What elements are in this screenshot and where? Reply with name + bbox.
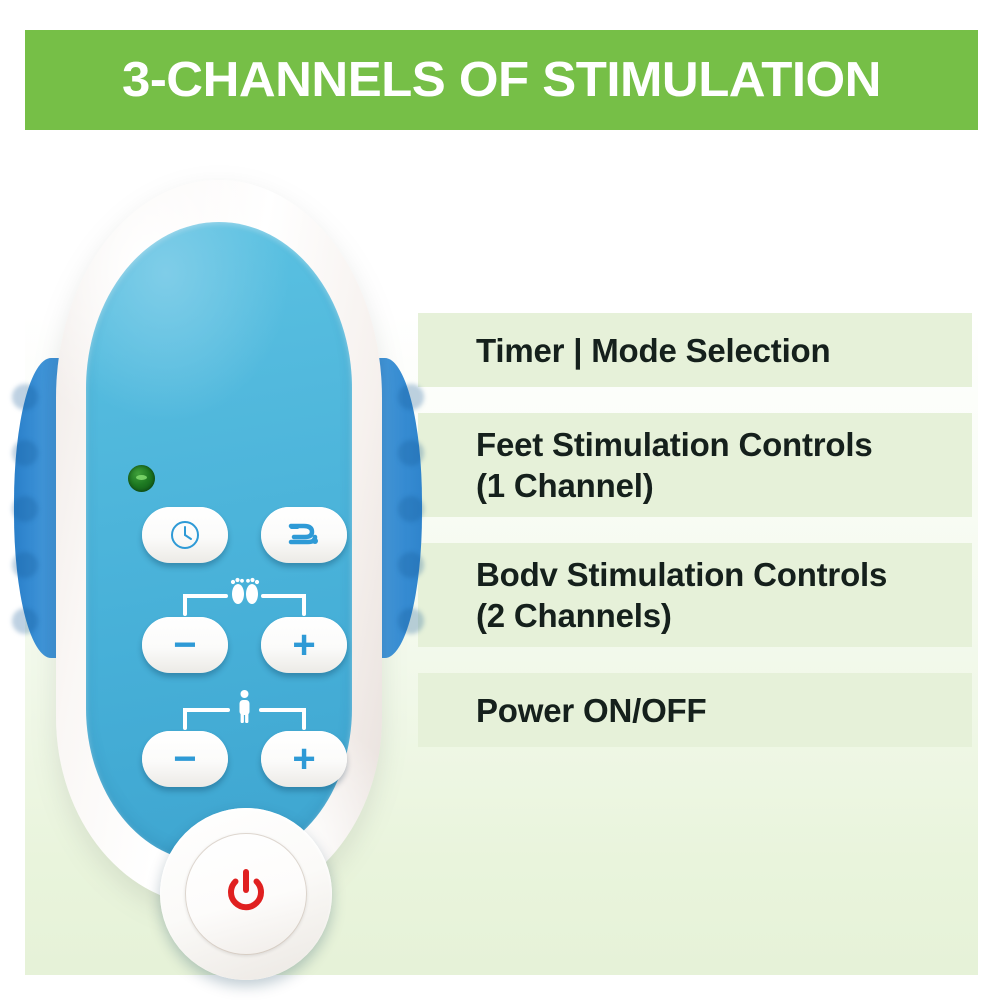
minus-icon: −: [173, 625, 196, 665]
callout-row-body-controls: Bodv Stimulation Controls (2 Channels): [418, 543, 972, 647]
callout-row-timer-mode: Timer | Mode Selection: [418, 313, 972, 387]
callout-row-power: Power ON/OFF: [418, 673, 972, 747]
page-title: 3-CHANNELS OF STIMULATION: [6, 30, 997, 130]
plus-icon: +: [292, 739, 315, 779]
remote-control-device: − + − +: [8, 180, 428, 920]
body-intensity-up-button[interactable]: +: [261, 731, 347, 787]
mode-waves-icon: [284, 520, 324, 550]
feet-intensity-up-button[interactable]: +: [261, 617, 347, 673]
feet-intensity-down-button[interactable]: −: [142, 617, 228, 673]
body-intensity-down-button[interactable]: −: [142, 731, 228, 787]
mode-button[interactable]: [261, 507, 347, 563]
callout-label: Power ON/OFF: [476, 690, 972, 731]
power-button-inner: [185, 833, 307, 955]
clock-icon: [168, 518, 202, 552]
timer-button[interactable]: [142, 507, 228, 563]
callout-row-feet-controls: Feet Stimulation Controls (1 Channel): [418, 413, 972, 517]
plus-icon: +: [292, 625, 315, 665]
power-icon: [218, 864, 274, 925]
callout-label: Bodv Stimulation Controls (2 Channels): [476, 554, 972, 636]
status-led-icon: [128, 465, 155, 492]
header-banner: 3-CHANNELS OF STIMULATION: [25, 30, 978, 130]
power-button[interactable]: [160, 808, 332, 980]
callout-label: Timer | Mode Selection: [476, 330, 972, 371]
infographic-page: 3-CHANNELS OF STIMULATION Timer | Mode S…: [0, 0, 1000, 1000]
minus-icon: −: [173, 739, 196, 779]
callout-label: Feet Stimulation Controls (1 Channel): [476, 424, 972, 506]
